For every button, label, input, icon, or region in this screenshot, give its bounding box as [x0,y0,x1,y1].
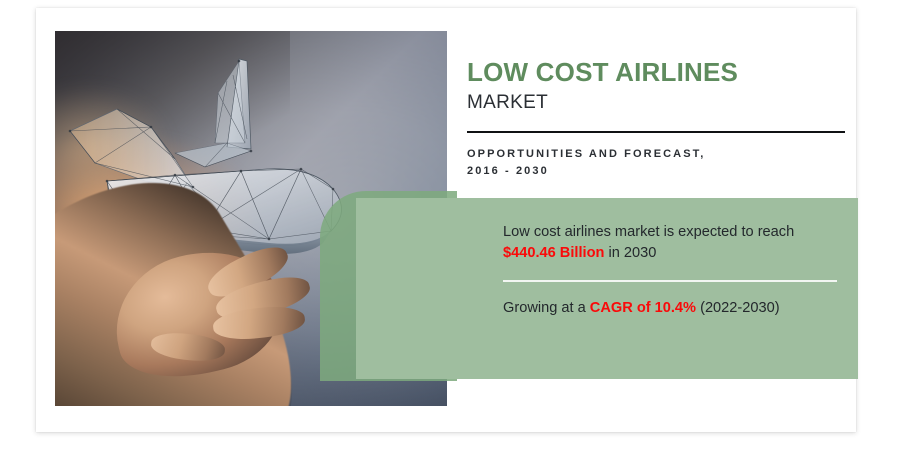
stat-cagr: Growing at a CAGR of 10.4% (2022-2030) [503,298,843,319]
report-header: LOW COST AIRLINES MARKET OPPORTUNITIES A… [467,58,839,180]
report-banner-card: Allied Market Research LOW COST AIRLINES… [36,8,856,432]
forecast-line-2: 2016 - 2030 [467,163,839,180]
page-subtitle: MARKET [467,92,839,114]
stats-panel: Low cost airlines market is expected to … [356,198,858,379]
forecast-period: OPPORTUNITIES AND FORECAST, 2016 - 2030 [467,146,839,180]
stat-2-suffix: (2022-2030) [696,300,780,316]
stat-2-value: CAGR of 10.4% [590,300,696,316]
page-title: LOW COST AIRLINES [467,58,839,87]
stat-1-prefix: Low cost airlines market is expected to … [503,224,794,240]
header-divider [467,131,845,133]
stat-market-size: Low cost airlines market is expected to … [503,222,843,264]
stat-2-prefix: Growing at a [503,300,590,316]
forecast-line-1: OPPORTUNITIES AND FORECAST, [467,146,839,163]
stat-1-suffix: in 2030 [604,245,656,261]
stats-divider [503,280,837,282]
stat-1-value: $440.46 Billion [503,245,604,261]
